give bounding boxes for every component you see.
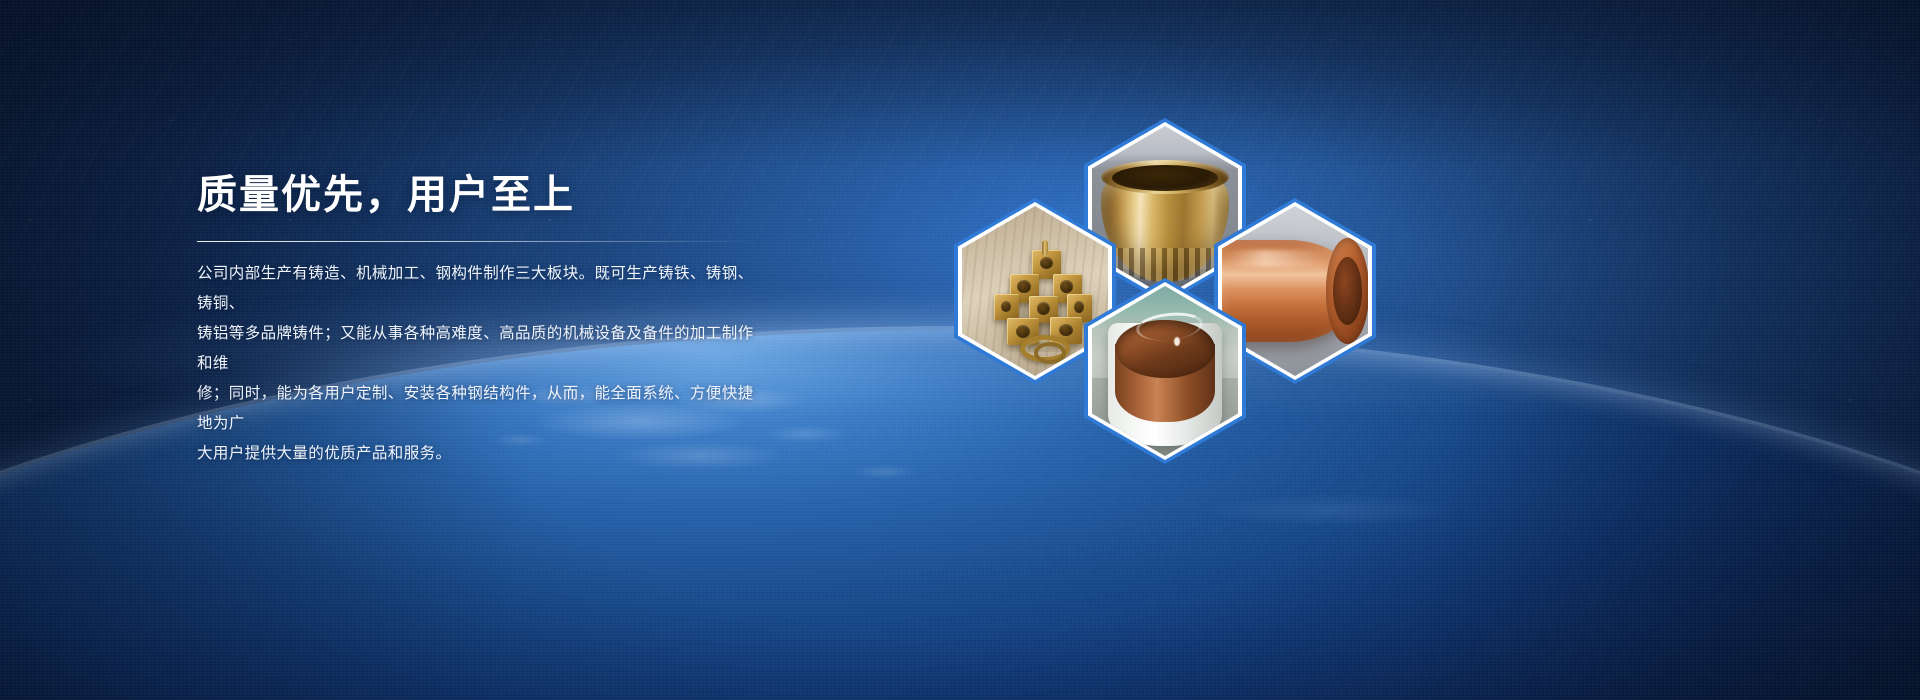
brass-pin (1042, 240, 1048, 256)
hero-description: 公司内部生产有铸造、机械加工、钢构件制作三大板块。既可生产铸铁、铸钢、铸铜、 铸… (197, 259, 769, 469)
bowl-cavity (1112, 165, 1217, 191)
block-hole (1040, 257, 1053, 269)
block-hole (1059, 324, 1073, 337)
title-divider (197, 241, 757, 242)
block-hole (1001, 301, 1012, 312)
block-hole (1060, 280, 1073, 293)
brass-ring-inner (1034, 342, 1066, 364)
description-line-3: 修；同时，能为各用户定制、安装各种钢结构件，从而，能全面系统、方便快捷地为广 (197, 379, 769, 439)
tube-highlight (1225, 250, 1327, 267)
sleeve-highlight (1174, 337, 1180, 346)
page-title: 质量优先，用户至上 (197, 172, 797, 219)
hex-copper-sleeve[interactable] (1084, 278, 1246, 464)
block-hole (1074, 301, 1085, 313)
hexagon-gallery (948, 112, 1378, 442)
hero-copy-block: 质量优先，用户至上 公司内部生产有铸造、机械加工、钢构件制作三大板块。既可生产铸… (197, 172, 797, 469)
tube-bore (1333, 257, 1362, 325)
block-hole (1017, 280, 1030, 293)
block-hole (1016, 325, 1030, 338)
block-hole (1037, 302, 1050, 315)
hero-banner: 质量优先，用户至上 公司内部生产有铸造、机械加工、钢构件制作三大板块。既可生产铸… (0, 0, 1920, 700)
brass-block (994, 294, 1019, 320)
description-line-4: 大用户提供大量的优质产品和服务。 (197, 439, 769, 469)
description-line-1: 公司内部生产有铸造、机械加工、钢构件制作三大板块。既可生产铸铁、铸钢、铸铜、 (197, 259, 769, 319)
description-line-2: 铸铝等多品牌铸件；又能从事各种高难度、高品质的机械设备及备件的加工制作和维 (197, 319, 769, 379)
